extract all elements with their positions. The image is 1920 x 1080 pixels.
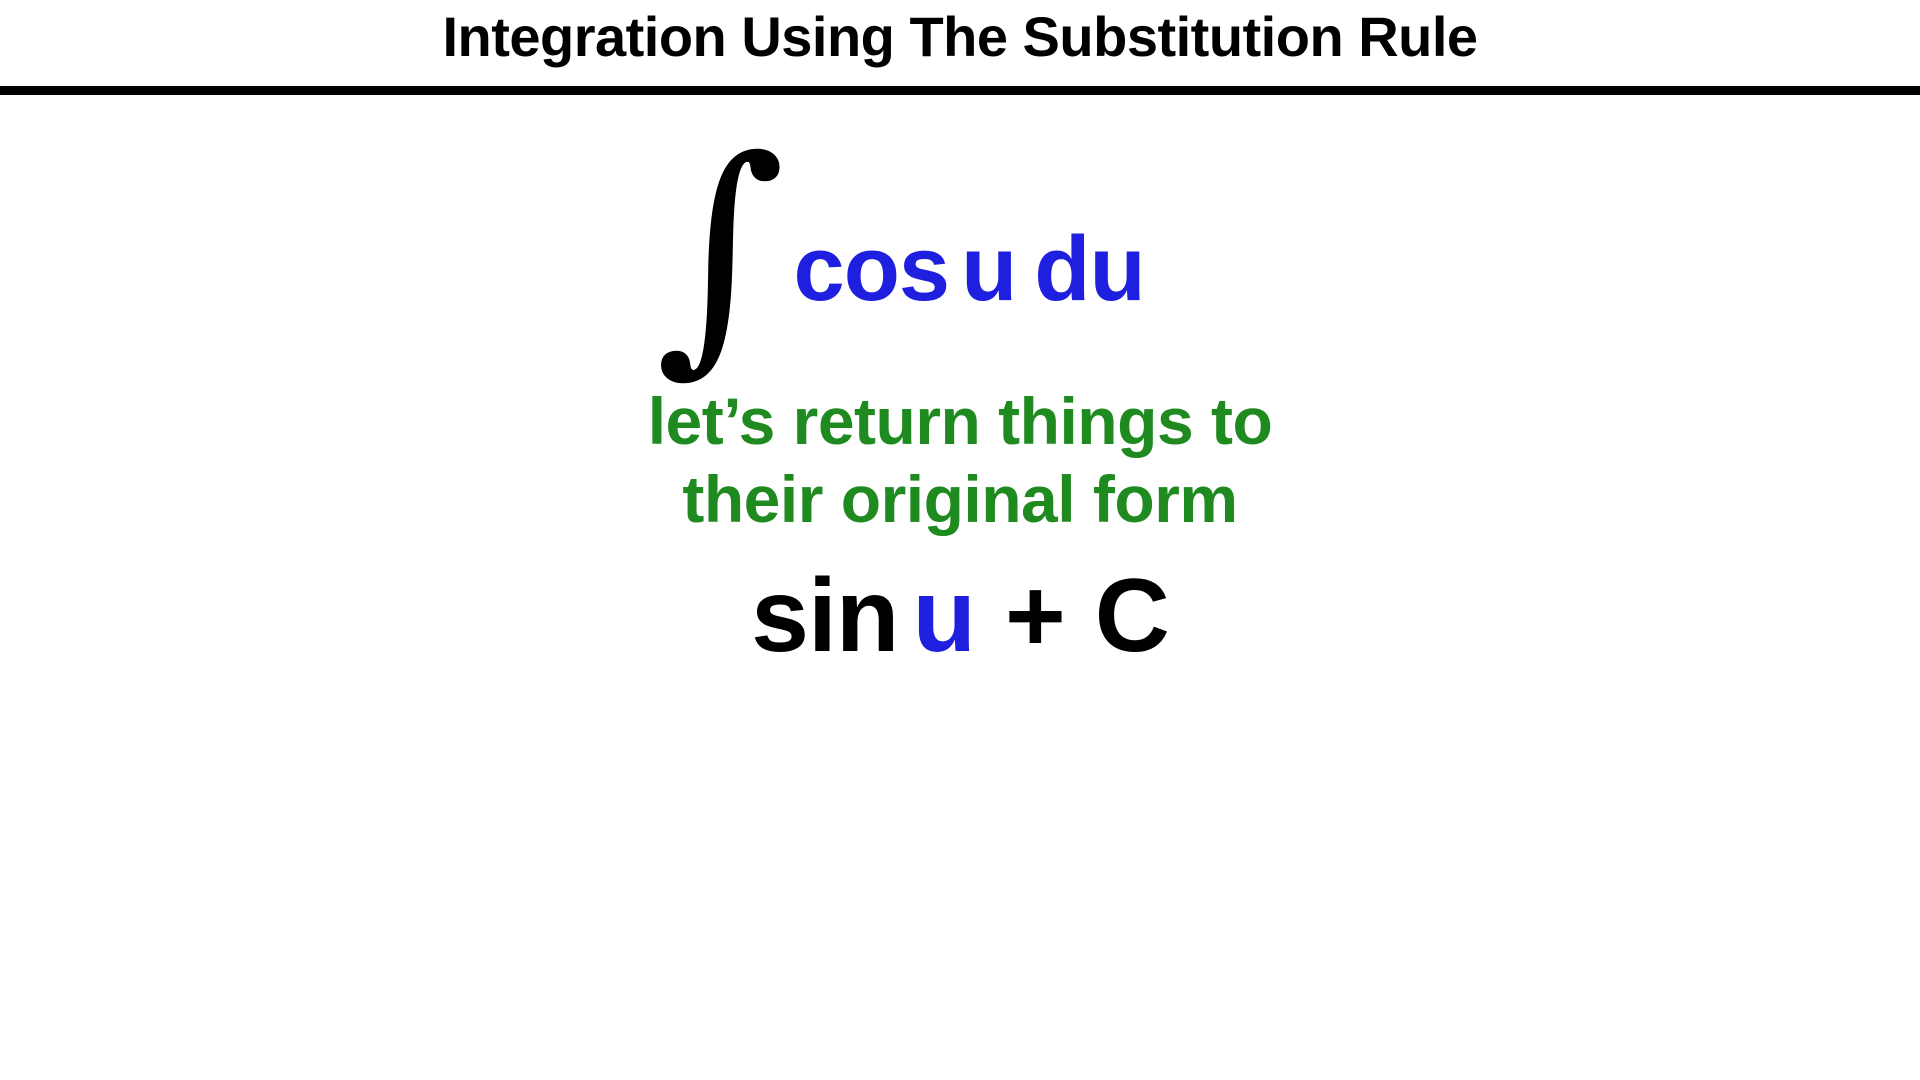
integral-sign-icon: ∫ [655, 154, 785, 349]
title-divider [0, 86, 1920, 95]
result-expression: sinu+C [0, 556, 1920, 676]
integral-expression: ∫ cosudu [0, 150, 1920, 360]
result-constant: C [1095, 558, 1169, 674]
page-title: Integration Using The Substitution Rule [0, 2, 1920, 72]
note-line-1: let’s return things to [0, 382, 1920, 460]
integrand-differential: du [1034, 218, 1144, 320]
result-variable: u [912, 558, 975, 674]
result-function: sin [751, 558, 898, 674]
slide-canvas: Integration Using The Substitution Rule … [0, 0, 1920, 1080]
integrand-group: cosudu [794, 223, 1145, 315]
integral-expression-inner: ∫ cosudu [655, 158, 1144, 353]
result-plus-sign: + [1005, 558, 1065, 674]
explanatory-note: let’s return things to their original fo… [0, 382, 1920, 538]
integrand-variable: u [961, 218, 1016, 320]
note-line-2: their original form [0, 460, 1920, 538]
integrand-function: cos [794, 218, 950, 320]
title-bar: Integration Using The Substitution Rule [0, 0, 1920, 96]
